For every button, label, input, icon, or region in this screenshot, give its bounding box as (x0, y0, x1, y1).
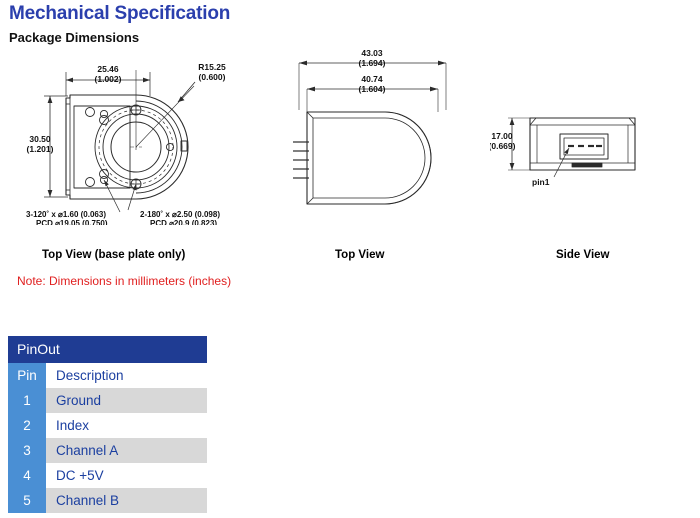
pinout-table-container: PinOut Pin Description 1 Ground 2 Index … (8, 336, 207, 513)
dim-height-in: (1.201) (27, 144, 54, 154)
cell-pin-number: 5 (8, 488, 46, 513)
cell-pin-number: 2 (8, 413, 46, 438)
callout-2x180-line1: 2-180˚ x ⌀2.50 (0.098) (140, 210, 220, 219)
pinout-table: Pin Description 1 Ground 2 Index 3 Chann… (8, 363, 207, 513)
dim-side-height-mm: 17.00 (491, 131, 513, 141)
cell-pin-description: Ground (46, 388, 207, 413)
cell-pin-number: 4 (8, 463, 46, 488)
base-plate-drawing: 25.46 (1.002) 30.50 (1.201) R15.25 (0.60… (18, 50, 268, 225)
dim-width-in: (1.002) (95, 74, 122, 84)
dim-side-height-in: (0.669) (490, 141, 516, 151)
table-header-row: Pin Description (8, 363, 207, 388)
dim-radius-in: (0.600) (199, 72, 226, 82)
dim-inner-mm: 40.74 (361, 74, 383, 84)
dim-outer-mm: 43.03 (361, 50, 383, 58)
figure-label-side-view: Side View (556, 249, 609, 261)
table-row: 3 Channel A (8, 438, 207, 463)
callout-3x120-line2: PCD ⌀19.05 (0.750) (36, 219, 108, 225)
figure-top-view: 43.03 (1.694) 40.74 (1.604) (285, 50, 460, 225)
figure-base-plate-top-view: 25.46 (1.002) 30.50 (1.201) R15.25 (0.60… (18, 50, 268, 225)
table-row: 4 DC +5V (8, 463, 207, 488)
cell-pin-number: 3 (8, 438, 46, 463)
dimensions-note: Note: Dimensions in millimeters (inches) (17, 274, 231, 288)
cell-pin-number: 1 (8, 388, 46, 413)
figure-label-base-plate-top-view: Top View (base plate only) (42, 249, 185, 261)
column-header-pin: Pin (8, 363, 46, 388)
dim-width-mm: 25.46 (97, 64, 119, 74)
drawing-row: 25.46 (1.002) 30.50 (1.201) R15.25 (0.60… (0, 50, 700, 265)
column-header-description: Description (46, 363, 207, 388)
cell-pin-description: Channel A (46, 438, 207, 463)
dim-height-mm: 30.50 (29, 134, 51, 144)
cell-pin-description: Channel B (46, 488, 207, 513)
dim-radius-mm: R15.25 (198, 62, 226, 72)
table-row: 5 Channel B (8, 488, 207, 513)
callout-3x120-line1: 3-120˚ x ⌀1.60 (0.063) (26, 210, 106, 219)
top-view-drawing: 43.03 (1.694) 40.74 (1.604) (285, 50, 460, 225)
table-row: 2 Index (8, 413, 207, 438)
figure-label-top-view: Top View (335, 249, 384, 261)
figure-side-view: 17.00 (0.669) pin1 (490, 105, 665, 225)
dim-inner-in: (1.604) (359, 84, 386, 94)
cell-pin-description: Index (46, 413, 207, 438)
page-root: Mechanical Specification Package Dimensi… (0, 0, 700, 518)
section-heading-package-dimensions: Package Dimensions (9, 30, 139, 45)
page-title: Mechanical Specification (9, 3, 230, 25)
pinout-title: PinOut (8, 336, 207, 363)
dim-outer-in: (1.694) (359, 58, 386, 68)
cell-pin-description: DC +5V (46, 463, 207, 488)
side-view-drawing: 17.00 (0.669) pin1 (490, 105, 665, 225)
table-row: 1 Ground (8, 388, 207, 413)
callout-pin1: pin1 (532, 177, 550, 187)
callout-2x180-line2: PCD ⌀20.9 (0.823) (150, 219, 217, 225)
